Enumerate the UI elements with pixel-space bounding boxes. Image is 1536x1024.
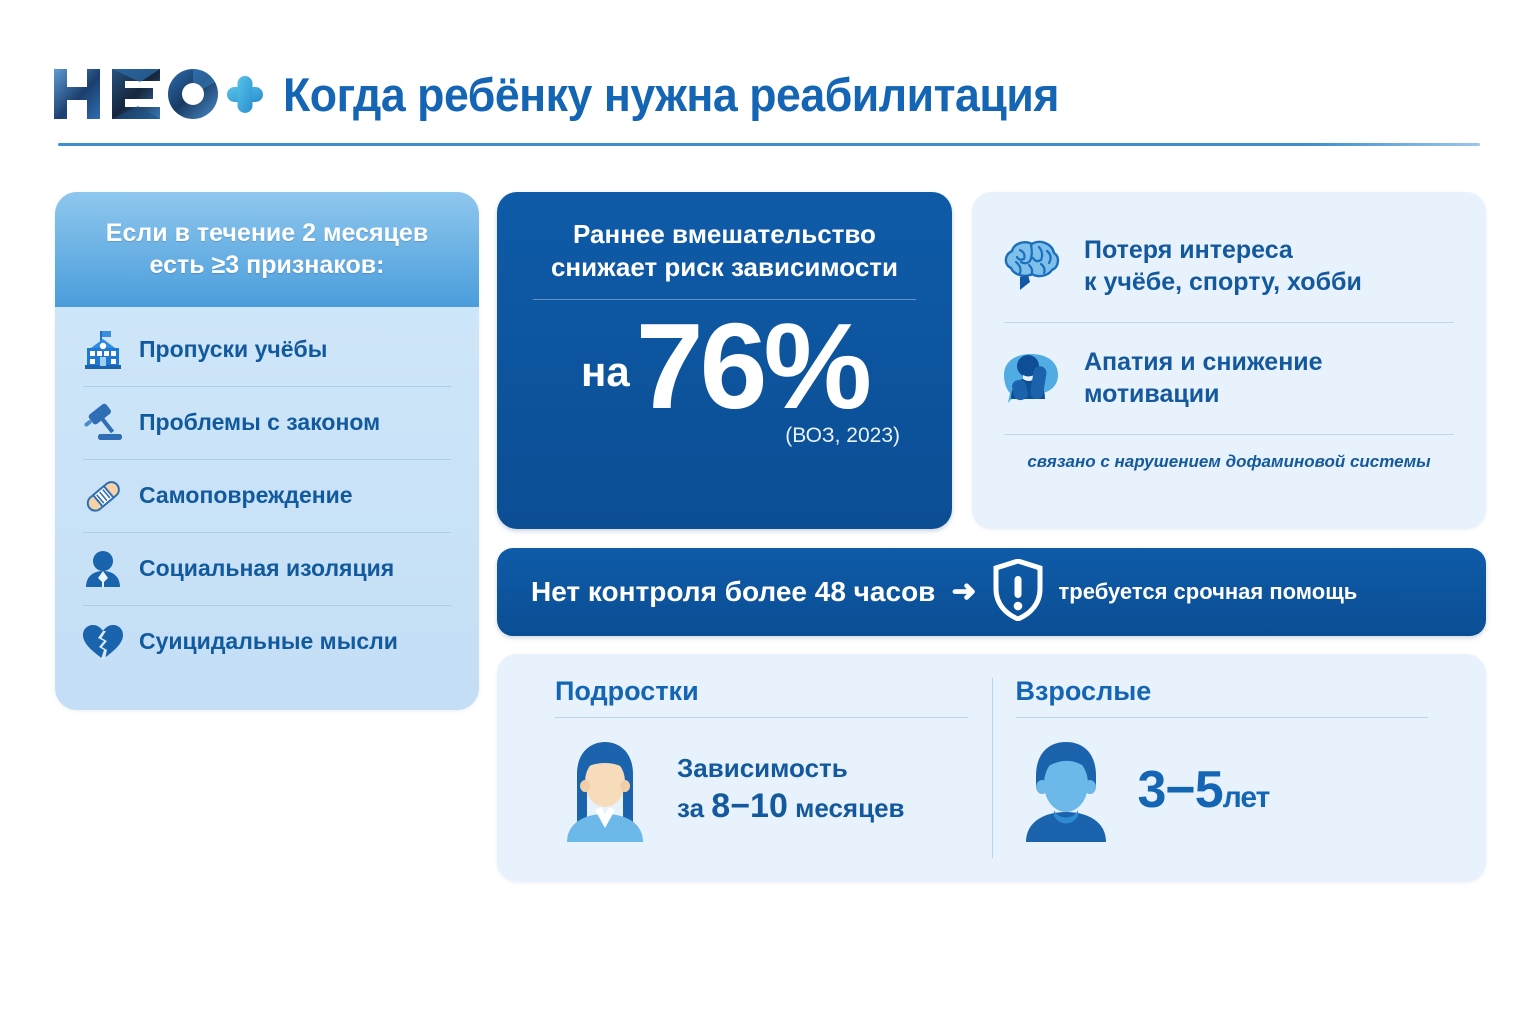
teen-girl-avatar bbox=[555, 732, 655, 848]
sign-label: Суицидальные мысли bbox=[139, 628, 398, 655]
stat-value: 76% bbox=[636, 310, 868, 422]
symptoms-card: Потеря интереса к учёбе, спорту, хобби А… bbox=[972, 192, 1486, 529]
stat-heading: Раннее вмешательство снижает риск зависи… bbox=[527, 218, 922, 285]
arrow-right-icon: ➜ bbox=[951, 577, 976, 607]
symptom-line-1: Потеря интереса bbox=[1084, 234, 1362, 267]
list-item[interactable]: Самоповреждение bbox=[81, 459, 453, 532]
sign-label: Социальная изоляция bbox=[139, 555, 394, 582]
teen-stat-line-1: Зависимость bbox=[677, 752, 905, 785]
brain-icon bbox=[998, 235, 1064, 297]
column-title: Взрослые bbox=[1016, 676, 1429, 717]
teen-stat-prefix: за bbox=[677, 793, 704, 823]
symptom-line-1: Апатия и снижение bbox=[1084, 346, 1323, 379]
broken-heart-icon bbox=[81, 620, 125, 664]
stat-prefix: на bbox=[581, 348, 630, 396]
symptom-line-2: к учёбе, спорту, хобби bbox=[1084, 266, 1362, 299]
list-item[interactable]: Пропуски учёбы bbox=[81, 313, 453, 386]
signs-card: Если в течение 2 месяцев есть ≥3 признак… bbox=[55, 192, 479, 710]
sign-label: Самоповреждение bbox=[139, 482, 353, 509]
signs-heading-line-2: есть ≥3 признаков: bbox=[150, 250, 385, 281]
school-icon bbox=[81, 328, 125, 372]
symptom-text: Апатия и снижение мотивации bbox=[1084, 346, 1323, 411]
early-intervention-stat-card: Раннее вмешательство снижает риск зависи… bbox=[497, 192, 952, 529]
adult-stat-unit: лет bbox=[1223, 781, 1270, 814]
symptom-text: Потеря интереса к учёбе, спорту, хобби bbox=[1084, 234, 1362, 299]
teen-stat-value: 8−10 bbox=[711, 787, 788, 825]
stat-heading-line-2: снижает риск зависимости bbox=[527, 251, 922, 284]
symptom-line-2: мотивации bbox=[1084, 378, 1323, 411]
gavel-icon bbox=[81, 401, 125, 445]
despair-person-icon bbox=[998, 347, 1064, 409]
list-item[interactable]: Потеря интереса к учёбе, спорту, хобби bbox=[998, 210, 1460, 322]
page-header: Когда ребёнку нужна реабилитация bbox=[50, 44, 1486, 144]
signs-card-heading: Если в течение 2 месяцев есть ≥3 признак… bbox=[55, 192, 479, 307]
urgent-alert-banner: Нет контроля более 48 часов ➜ требуется … bbox=[497, 548, 1486, 636]
teen-stat-line-2: за 8−10 месяцев bbox=[677, 784, 905, 828]
symptoms-footnote: связано с нарушением дофаминовой системы bbox=[998, 434, 1460, 472]
list-item[interactable]: Суицидальные мысли bbox=[81, 605, 453, 678]
column-divider bbox=[555, 717, 968, 718]
signs-heading-line-1: Если в течение 2 месяцев bbox=[106, 218, 428, 249]
alert-sub-text: требуется срочная помощь bbox=[1059, 579, 1358, 605]
sign-label: Проблемы с законом bbox=[139, 409, 380, 436]
person-icon bbox=[81, 547, 125, 591]
infographic-page: Когда ребёнку нужна реабилитация Если в … bbox=[0, 0, 1536, 1024]
teen-stat-suffix: месяцев bbox=[795, 793, 904, 823]
alert-main-text: Нет контроля более 48 часов bbox=[531, 576, 935, 608]
stat-value-row: на 76% bbox=[527, 310, 922, 422]
age-comparison-card: Подростки Зависимость bbox=[497, 654, 1486, 882]
neo-plus-logo bbox=[50, 63, 265, 125]
column-title: Подростки bbox=[555, 676, 968, 717]
comparison-column-adults: Взрослые 3−5лет bbox=[992, 676, 1453, 860]
adult-stat-text: 3−5лет bbox=[1138, 760, 1270, 820]
adult-man-avatar bbox=[1016, 732, 1116, 848]
list-item[interactable]: Проблемы с законом bbox=[81, 386, 453, 459]
list-item[interactable]: Апатия и снижение мотивации bbox=[998, 322, 1460, 434]
shield-alert-icon bbox=[993, 559, 1043, 626]
signs-list: Пропуски учёбы Проблемы с законом bbox=[55, 307, 479, 678]
column-divider bbox=[1016, 717, 1429, 718]
list-item[interactable]: Социальная изоляция bbox=[81, 532, 453, 605]
sign-label: Пропуски учёбы bbox=[139, 336, 327, 363]
page-title: Когда ребёнку нужна реабилитация bbox=[283, 71, 1059, 118]
adult-stat-value: 3−5 bbox=[1138, 761, 1223, 819]
teen-stat-text: Зависимость за 8−10 месяцев bbox=[677, 752, 905, 829]
header-divider bbox=[58, 143, 1480, 146]
stat-heading-line-1: Раннее вмешательство bbox=[527, 218, 922, 251]
comparison-column-teens: Подростки Зависимость bbox=[531, 676, 992, 860]
bandage-icon bbox=[81, 474, 125, 518]
